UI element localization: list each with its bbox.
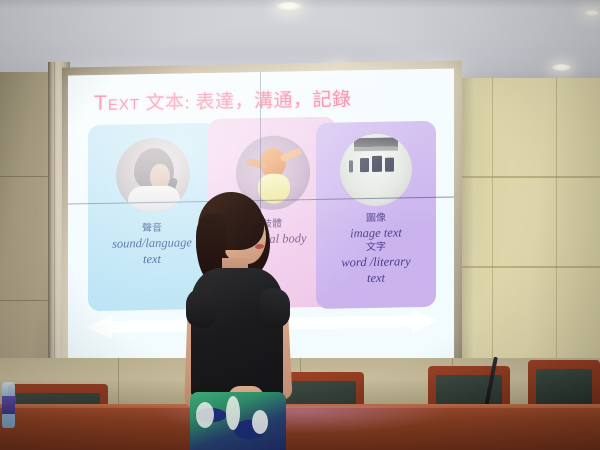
downlight-icon (584, 10, 600, 16)
arrow-right-icon (282, 309, 438, 336)
downlight-icon (276, 2, 302, 11)
slide-title-chinese: 文本: 表達，溝通，記錄 (146, 89, 352, 114)
presenter-sleeve-right (260, 288, 290, 328)
downlight-icon (552, 64, 571, 71)
presenter-sleeve-left (186, 288, 216, 328)
water-bottle (2, 382, 15, 428)
slide-title-latin: Text (94, 91, 140, 115)
panel-image-word-labels: 圖像 image text 文字 word /literary text (316, 211, 436, 287)
presenter-skirt (190, 392, 286, 450)
panel-image-word: 圖像 image text 文字 word /literary text (316, 121, 436, 309)
slide-title: Text 文本: 表達，溝通，記錄 (94, 84, 352, 116)
wall-right-panels (456, 78, 600, 378)
panel-image-word-image (340, 133, 412, 206)
photo-scene: Text 文本: 表達，溝通，記錄 聲音 sound/language (0, 0, 600, 450)
panel-image-word-label-en3: text (316, 269, 436, 287)
